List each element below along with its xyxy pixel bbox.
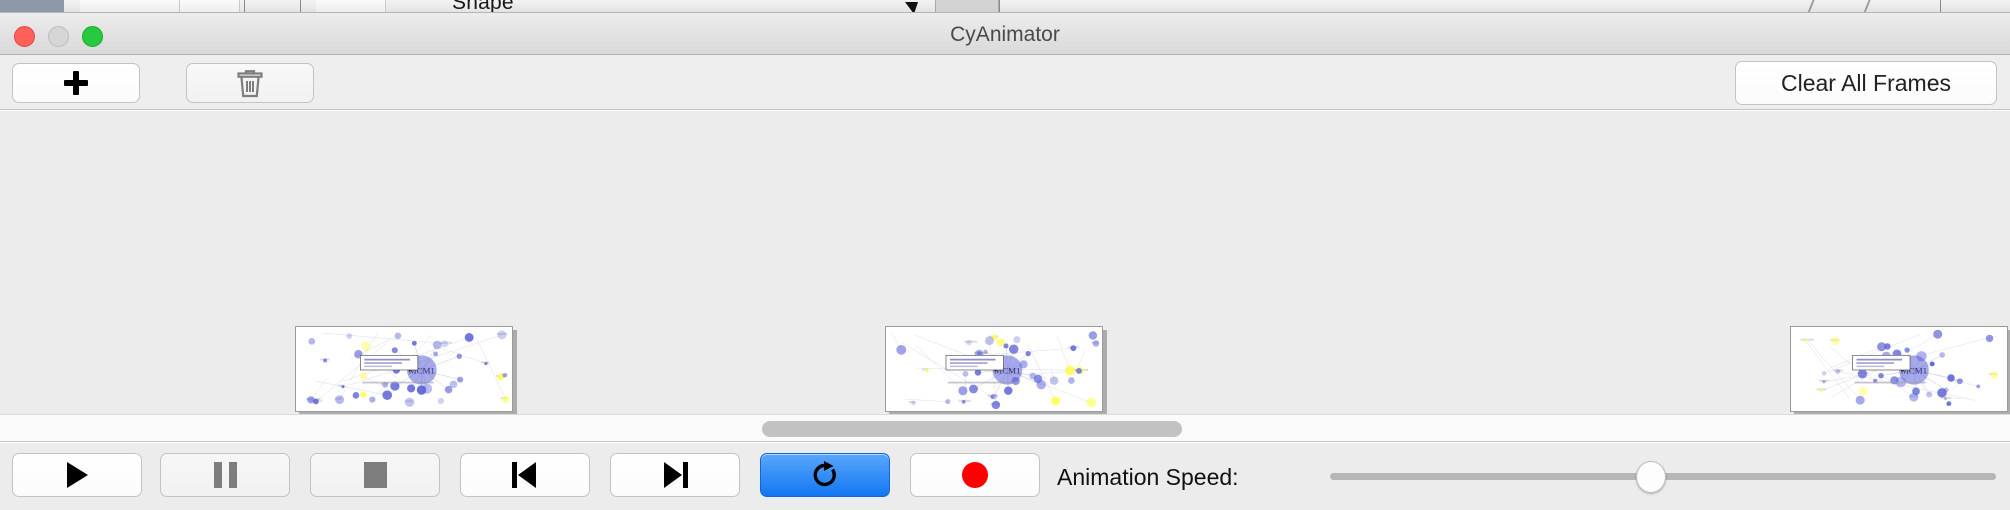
cyanimator-window: Shape CyAnimator bbox=[0, 0, 2010, 510]
background-window-strip: Shape bbox=[0, 0, 2010, 13]
frame-thumbnail-1[interactable]: MCM1 bbox=[295, 326, 513, 412]
pause-icon bbox=[214, 462, 237, 488]
record-button[interactable] bbox=[910, 453, 1040, 497]
stop-icon bbox=[364, 462, 387, 488]
title-bar: CyAnimator bbox=[0, 13, 2010, 55]
slider-thumb[interactable] bbox=[1636, 461, 1666, 493]
frame-thumbnail-3[interactable]: MCM1 bbox=[1790, 326, 2008, 412]
transport-bar: Animation Speed: bbox=[0, 443, 2010, 510]
frame-thumbnail-2[interactable]: MCM1 bbox=[885, 326, 1103, 412]
plus-icon bbox=[64, 71, 88, 95]
background-shape-label: Shape bbox=[452, 0, 514, 13]
timeline-panel[interactable]: MCM1 MCM1 MCM1 2131415161718 Seconds bbox=[0, 111, 2010, 414]
add-frame-button[interactable] bbox=[12, 63, 140, 103]
trash-icon bbox=[237, 68, 263, 98]
skip-back-icon bbox=[512, 462, 538, 488]
delete-frame-button[interactable] bbox=[186, 63, 314, 103]
loop-button[interactable] bbox=[760, 453, 890, 497]
stop-button[interactable] bbox=[310, 453, 440, 497]
animation-speed-label: Animation Speed: bbox=[1057, 464, 1239, 491]
skip-forward-icon bbox=[662, 462, 688, 488]
clear-all-frames-button[interactable]: Clear All Frames bbox=[1735, 61, 1997, 105]
toolbar: Clear All Frames bbox=[0, 55, 2010, 110]
play-icon bbox=[67, 462, 88, 488]
play-button[interactable] bbox=[12, 453, 142, 497]
window-title: CyAnimator bbox=[0, 23, 2010, 47]
pause-button[interactable] bbox=[160, 453, 290, 497]
skip-back-button[interactable] bbox=[460, 453, 590, 497]
timeline-scrollbar[interactable] bbox=[0, 414, 2010, 442]
scrollbar-thumb[interactable] bbox=[762, 421, 1182, 437]
loop-icon bbox=[810, 460, 840, 490]
animation-speed-slider[interactable] bbox=[1330, 473, 1996, 480]
record-icon bbox=[962, 462, 988, 488]
skip-forward-button[interactable] bbox=[610, 453, 740, 497]
